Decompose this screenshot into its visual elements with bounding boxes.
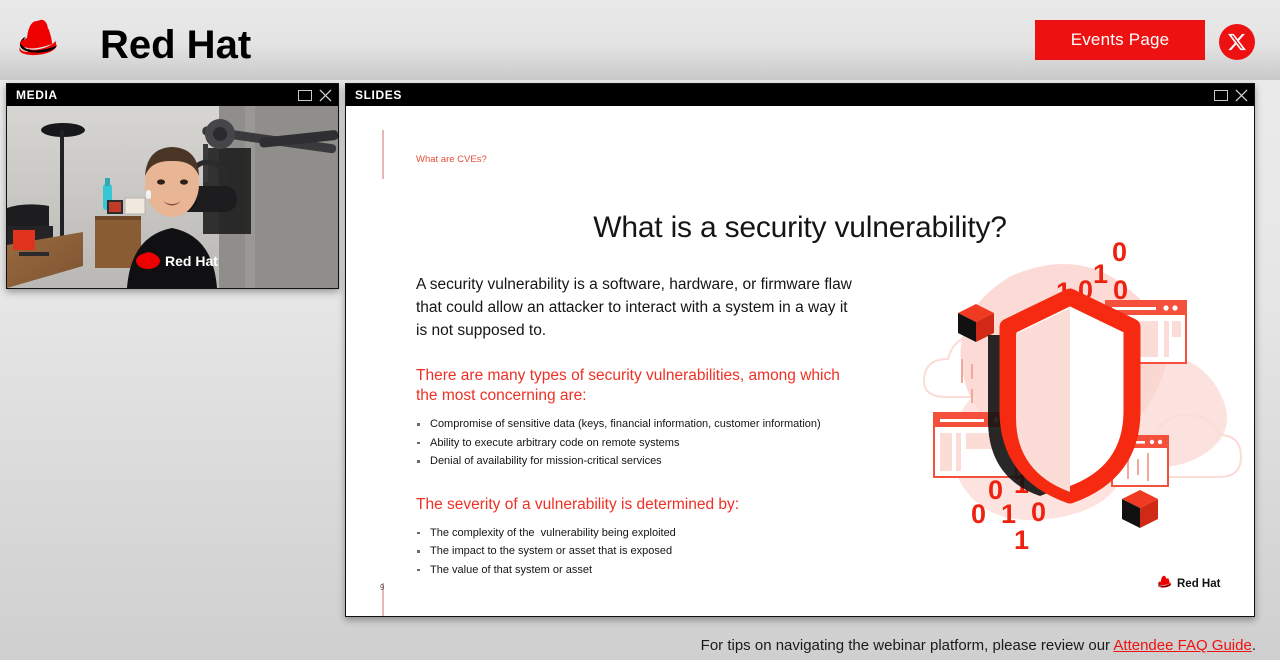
svg-text:Red Hat: Red Hat (100, 23, 251, 67)
media-panel-titlebar: MEDIA (7, 84, 338, 106)
slides-close-icon[interactable] (1235, 89, 1248, 102)
x-twitter-icon[interactable] (1219, 24, 1255, 60)
media-panel: MEDIA (6, 83, 339, 289)
list-item: Compromise of sensitive data (keys, fina… (416, 415, 856, 434)
footer-text-before: For tips on navigating the webinar platf… (701, 637, 1114, 654)
svg-text:0: 0 (1031, 497, 1046, 527)
svg-text:0: 0 (971, 499, 986, 529)
severity-bullet-list: The complexity of the vulnerability bein… (416, 524, 856, 580)
types-bullet-list: Compromise of sensitive data (keys, fina… (416, 415, 856, 471)
slide-red-hat-logo: Red Hat (1157, 571, 1229, 598)
types-heading: There are many types of security vulnera… (416, 366, 856, 406)
slide-paragraph: A security vulnerability is a software, … (416, 273, 856, 342)
footer-tip: For tips on navigating the webinar platf… (0, 637, 1280, 654)
footer-text-after: . (1252, 637, 1256, 654)
list-item: Ability to execute arbitrary code on rem… (416, 434, 856, 453)
slides-panel-titlebar: SLIDES (346, 84, 1254, 106)
slides-panel: SLIDES What are CVEs? What is a security… (345, 83, 1255, 617)
slides-restore-icon[interactable] (1214, 90, 1228, 101)
slide-eyebrow: What are CVEs? (416, 154, 487, 165)
severity-heading: The severity of a vulnerability is deter… (416, 495, 856, 515)
webcam-video[interactable]: Red Hat (7, 106, 338, 288)
red-hat-logo: Red Hat (8, 8, 278, 72)
svg-text:Red Hat: Red Hat (1177, 578, 1221, 590)
security-shield-illustration: 0 1 1 0 0 1 0 1 0 1 0 1 (916, 231, 1246, 561)
list-item: Denial of availability for mission-criti… (416, 452, 856, 471)
top-bar: Red Hat Events Page (0, 0, 1280, 80)
slide-content: What are CVEs? What is a security vulner… (346, 106, 1254, 616)
svg-text:1: 1 (1014, 525, 1029, 555)
slides-panel-title: SLIDES (355, 88, 1214, 102)
svg-text:1: 1 (1093, 259, 1108, 289)
svg-text:Red Hat: Red Hat (165, 253, 218, 269)
slide-body-column: A security vulnerability is a software, … (416, 273, 856, 579)
slide-page-number: 9 (380, 583, 384, 592)
slide-accent-line-top (382, 130, 384, 179)
media-close-icon[interactable] (319, 89, 332, 102)
list-item: The value of that system or asset (416, 561, 856, 580)
list-item: The complexity of the vulnerability bein… (416, 524, 856, 543)
media-panel-title: MEDIA (16, 88, 298, 102)
attendee-faq-guide-link[interactable]: Attendee FAQ Guide (1113, 637, 1251, 654)
svg-text:0: 0 (1112, 237, 1127, 267)
list-item: The impact to the system or asset that i… (416, 542, 856, 561)
events-page-button[interactable]: Events Page (1035, 20, 1205, 60)
media-restore-icon[interactable] (298, 90, 312, 101)
